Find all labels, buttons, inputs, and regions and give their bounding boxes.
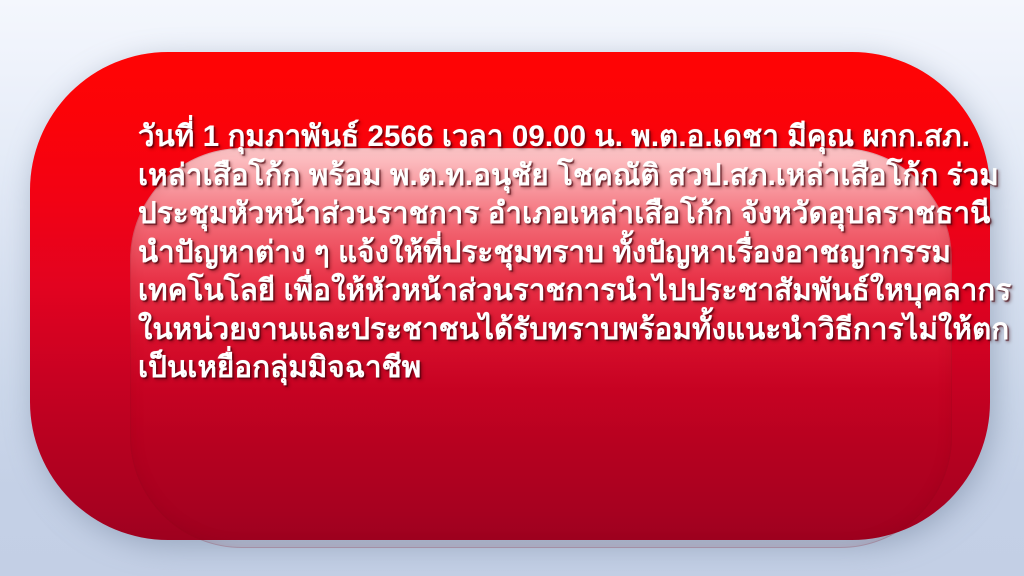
announcement-line: เทคโนโลยี เพื่อให้หัวหน้าส่วนราชการนำไปป…: [138, 272, 898, 311]
announcement-line: ในหน่วยงานและประชาชนได้รับทราบพร้อมทั้งแ…: [138, 311, 898, 350]
announcement-line: เหล่าเสือโก้ก พร้อม พ.ต.ท.อนุชัย โชคณัติ…: [138, 157, 898, 196]
announcement-line: เป็นเหยื่อกลุ่มมิจฉาชีพ: [138, 349, 898, 388]
announcement-line: วันที่ 1 กุมภาพันธ์ 2566 เวลา 09.00 น. พ…: [138, 118, 898, 157]
announcement-line: นำปัญหาต่าง ๆ แจ้งให้ที่ประชุมทราบ ทั้งป…: [138, 234, 898, 273]
announcement-line: ประชุมหัวหน้าส่วนราชการ อำเภอเหล่าเสือโก…: [138, 195, 898, 234]
slide-canvas: วันที่ 1 กุมภาพันธ์ 2566 เวลา 09.00 น. พ…: [0, 0, 1024, 576]
announcement-text-block: วันที่ 1 กุมภาพันธ์ 2566 เวลา 09.00 น. พ…: [138, 118, 898, 388]
